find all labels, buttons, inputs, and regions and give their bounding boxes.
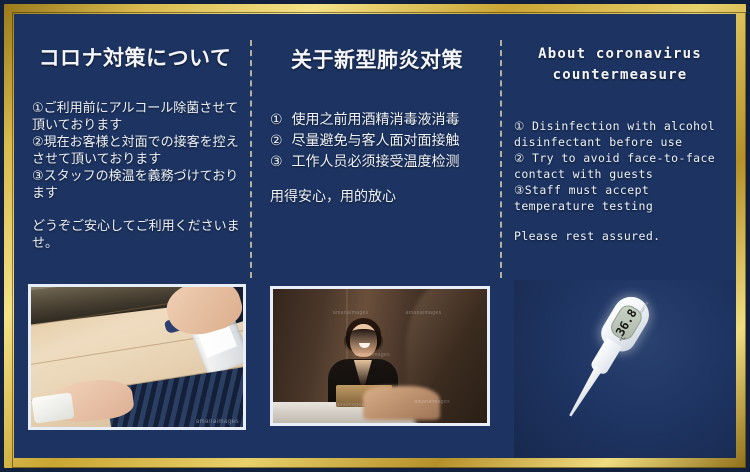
poster-stage: コロナ対策について ①ご利用前にアルコール除菌させて頂いております ②現在お客様… bbox=[14, 14, 736, 458]
cleaning-cloth bbox=[31, 392, 74, 423]
photo-reception-inner: amanaimages amanaimages amanaimages aman… bbox=[273, 289, 487, 423]
english-body: ① Disinfection with alcohol disinfectant… bbox=[508, 118, 732, 244]
photo-watermark: amanaimages bbox=[329, 402, 365, 408]
coronavirus-countermeasure-poster: コロナ対策について ①ご利用前にアルコール除菌させて頂いております ②現在お客様… bbox=[0, 0, 750, 472]
column-chinese: 关于新型肺炎对策 ① 使用之前用酒精消毒液消毒 ② 尽量避免与客人面对面接触 ③… bbox=[258, 32, 496, 282]
english-spacer bbox=[514, 214, 732, 228]
digital-thermometer-icon: OMRON 36.8 °C bbox=[557, 290, 656, 422]
thermometer-photo: OMRON 36.8 °C bbox=[514, 280, 736, 458]
column-divider-1 bbox=[250, 40, 252, 278]
chinese-body: ① 使用之前用酒精消毒液消毒 ② 尽量避免与客人面对面接触 ③ 工作人员必须接受… bbox=[258, 110, 496, 208]
photo-watermark: amanaimages bbox=[406, 310, 442, 316]
photo-cleaning-inner: amanaimages bbox=[31, 287, 243, 427]
english-title: About coronavirus countermeasure bbox=[508, 44, 732, 86]
chinese-title: 关于新型肺炎对策 bbox=[258, 44, 496, 74]
chinese-spacer bbox=[270, 173, 496, 187]
photo-cleaning-table: amanaimages bbox=[28, 284, 246, 430]
chinese-item-1: ① 使用之前用酒精消毒液消毒 bbox=[270, 110, 496, 131]
reception-scene: amanaimages amanaimages amanaimages aman… bbox=[273, 289, 487, 423]
thermometer-reading: 36.8 bbox=[613, 307, 640, 339]
column-english: About coronavirus countermeasure ① Disin… bbox=[508, 32, 732, 282]
photo-watermark: amanaimages bbox=[414, 399, 450, 405]
english-items: ① Disinfection with alcohol disinfectant… bbox=[514, 118, 732, 214]
wooden-table-surface: amanaimages bbox=[31, 287, 243, 427]
chinese-item-3: ③ 工作人员必须接受温度检测 bbox=[270, 152, 496, 173]
photo-hotel-reception: amanaimages amanaimages amanaimages aman… bbox=[270, 286, 490, 426]
column-divider-2 bbox=[500, 40, 502, 278]
english-closing: Please rest assured. bbox=[514, 228, 732, 244]
japanese-items: ①ご利用前にアルコール除菌させて頂いております ②現在お客様と対面での接客を控え… bbox=[32, 100, 248, 202]
chinese-item-2: ② 尽量避免与客人面对面接触 bbox=[270, 131, 496, 152]
japanese-spacer bbox=[32, 202, 248, 218]
column-japanese: コロナ対策について ①ご利用前にアルコール除菌させて頂いております ②現在お客様… bbox=[22, 32, 248, 282]
japanese-closing: どうぞご安心してご利用くださいませ。 bbox=[32, 218, 248, 252]
thermometer-probe bbox=[566, 365, 603, 418]
photo-watermark: amanaimages bbox=[333, 310, 369, 316]
photo-watermark: amanaimages bbox=[354, 352, 390, 358]
chinese-closing: 用得安心，用的放心 bbox=[270, 187, 496, 208]
photo-watermark: amanaimages bbox=[196, 419, 239, 425]
japanese-title: コロナ対策について bbox=[22, 42, 248, 72]
japanese-body: ①ご利用前にアルコール除菌させて頂いております ②現在お客様と対面での接客を控え… bbox=[22, 100, 248, 252]
